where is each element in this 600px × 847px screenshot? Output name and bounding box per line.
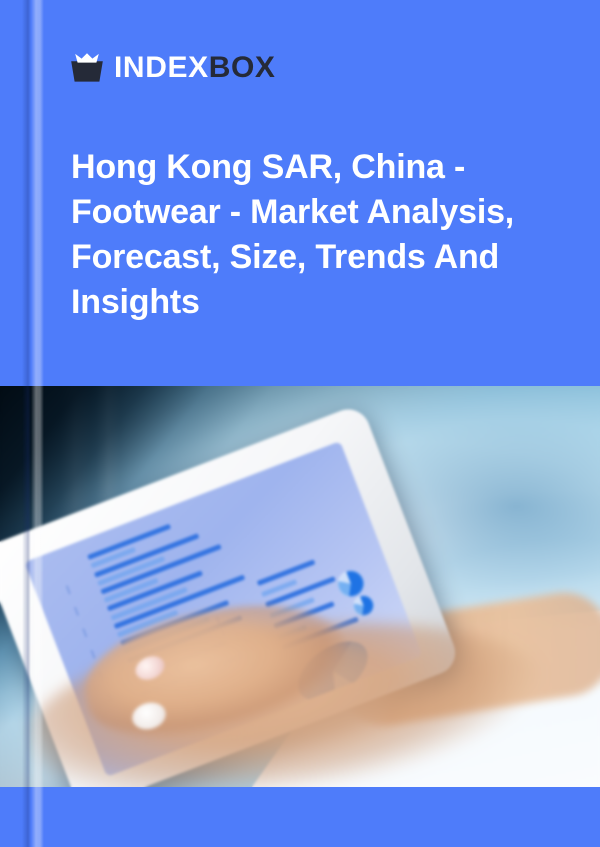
brand-wordmark: INDEXBOX [114,53,276,83]
cover-header: INDEXBOX Hong Kong SAR, China - Footwear… [0,0,600,386]
brand-word-box: BOX [209,51,276,84]
footer-band [0,787,600,847]
report-cover-page: INDEXBOX Hong Kong SAR, China - Footwear… [0,0,600,847]
page-title: Hong Kong SAR, China - Footwear - Market… [71,145,541,325]
hero-image [0,386,600,787]
brand-logo[interactable]: INDEXBOX [70,48,276,88]
basket-crown-icon [70,53,104,83]
brand-word-index: INDEX [114,51,209,84]
